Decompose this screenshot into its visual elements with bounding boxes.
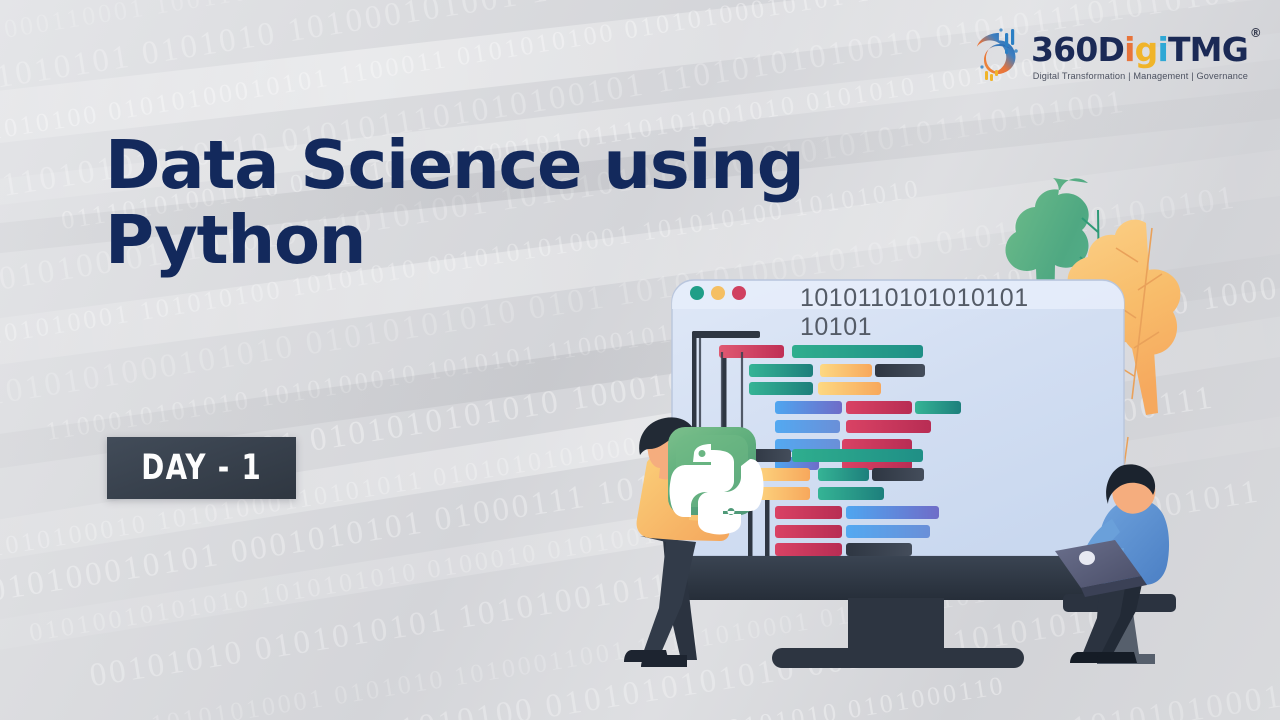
brand-tagline: Digital Transformation | Management | Go… [1031, 71, 1248, 81]
dot-rose-icon [732, 286, 746, 300]
logo-g: g [1135, 30, 1158, 69]
code-guide-lines [692, 331, 770, 568]
dot-amber-icon [711, 286, 725, 300]
screen-binary-line-2: 10101 [800, 313, 1040, 342]
python-tile [668, 427, 764, 535]
binary-background: 01010101010 000110001 1001100101 0101010… [0, 0, 1280, 720]
brand-wordmark: 360DigiTMG® Digital Transformation | Man… [1031, 27, 1248, 81]
monitor-neck [848, 598, 944, 651]
person-carrying-python-tile [624, 338, 764, 667]
leaf-orange-icon [1044, 220, 1181, 555]
slide-canvas: 01010101010 000110001 1001100101 0101010… [0, 0, 1280, 720]
logo-i1: i [1124, 30, 1135, 69]
hero-illustration [0, 0, 1280, 720]
code-bars-lower [749, 449, 939, 575]
binary-row: 01010010101010 1010101010 0100010 010100… [28, 398, 1280, 646]
bench-seat [1063, 594, 1176, 612]
binary-row: 0101010101010 0010101 101010100 01010101… [0, 547, 1280, 720]
bench-leg [1097, 612, 1155, 664]
logo-i2: i [1157, 30, 1168, 69]
title-line-1: Data Science using [105, 128, 804, 203]
binary-row: 10101010001 0101010 10100011001 10101010… [149, 506, 1280, 720]
python-logo-icon [670, 444, 764, 535]
screen-binary-text: 1010110101010101 10101 [800, 284, 1040, 342]
brand-logo[interactable]: 360DigiTMG® Digital Transformation | Man… [977, 27, 1248, 85]
logo-tmg: TMG [1168, 30, 1248, 69]
brand-wordmark-text: 360DigiTMG® [1031, 33, 1248, 66]
day-badge-label: DAY - 1 [141, 448, 262, 488]
registered-mark: ® [1250, 27, 1261, 39]
day-badge: DAY - 1 [107, 437, 296, 499]
code-bars-upper [719, 345, 961, 470]
light-streak [0, 380, 1280, 690]
logo-360: 360 [1031, 30, 1097, 69]
binary-row: 110101000101 10101010 0101000110 1101010… [12, 599, 1280, 720]
binary-row: 01010010 1010101010001 101010010 0101001… [132, 694, 1280, 720]
page-title: Data Science using Python [105, 128, 804, 278]
brand-mark-icon [977, 27, 1025, 85]
monitor-base [772, 648, 1024, 668]
dot-green-icon [690, 286, 704, 300]
laptop-lid [1055, 540, 1141, 588]
logo-d: D [1098, 30, 1125, 69]
title-line-2: Python [105, 203, 804, 278]
person-sitting-with-laptop [1055, 464, 1176, 664]
binary-row: 1010101010 010101011 10101010001 1010101… [72, 650, 1280, 720]
screen-binary-line-1: 1010110101010101 [800, 284, 1040, 313]
monitor-bezel [686, 556, 1110, 600]
